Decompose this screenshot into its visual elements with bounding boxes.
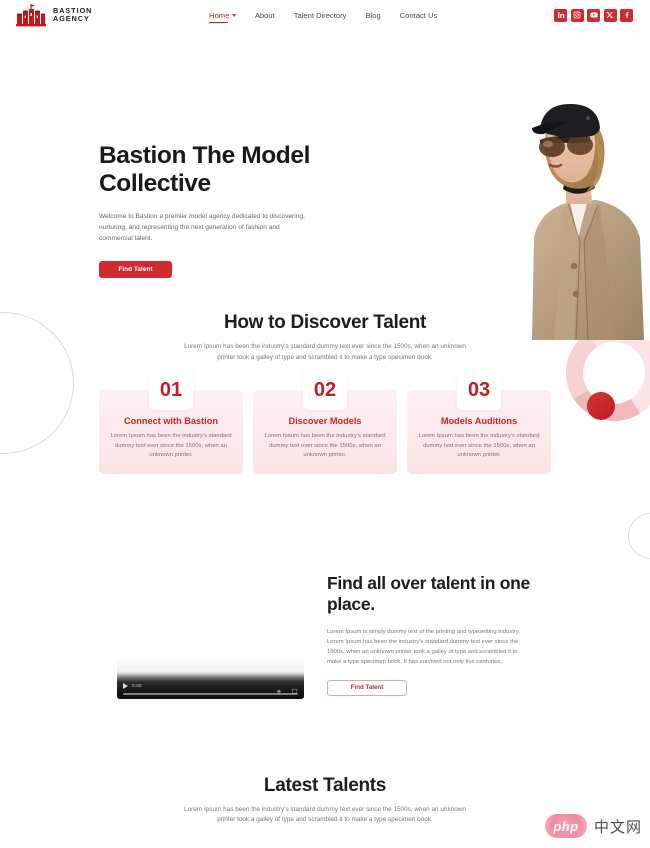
hero-copy: Bastion The Model Collective Welcome to … [99, 142, 315, 278]
facebook-icon[interactable] [620, 9, 633, 22]
video-progress-bar[interactable] [123, 693, 298, 694]
castle-logo-icon [14, 3, 48, 27]
card-text: Lorem Ipsum has been the industry's stan… [109, 432, 233, 461]
nav-item-about[interactable]: About [255, 11, 275, 20]
linkedin-icon[interactable] [554, 9, 567, 22]
watermark-chinese-text: 中文网 [594, 816, 642, 837]
discover-card[interactable]: 03 Models Auditions Lorem Ipsum has been… [407, 390, 551, 474]
card-number-badge: 01 [149, 370, 193, 410]
nav-label-about: About [255, 11, 275, 20]
brand-logo[interactable]: BASTION AGENCY [14, 3, 92, 27]
video-player[interactable]: 0:00 [117, 558, 304, 699]
card-title: Discover Models [263, 416, 387, 426]
video-control-bar: 0:00 [117, 673, 304, 699]
site-header: BASTION AGENCY Home About Talent Directo… [0, 0, 650, 30]
card-text: Lorem Ipsum has been the industry's stan… [263, 432, 387, 461]
find-all-find-talent-button[interactable]: Find Talent [327, 680, 407, 696]
card-text: Lorem Ipsum has been the industry's stan… [417, 432, 541, 461]
video-current-time: 0:00 [132, 683, 142, 688]
chevron-down-icon [232, 14, 236, 17]
discover-cards: 01 Connect with Bastion Lorem Ipsum has … [99, 390, 551, 474]
nav-item-blog[interactable]: Blog [365, 11, 380, 20]
card-title: Models Auditions [417, 416, 541, 426]
hero-model-photo [504, 88, 650, 340]
video-right-controls [276, 682, 298, 689]
fullscreen-icon[interactable] [291, 682, 298, 689]
discover-card[interactable]: 01 Connect with Bastion Lorem Ipsum has … [99, 390, 243, 474]
latest-talents-title: Latest Talents [0, 775, 650, 797]
volume-icon[interactable] [276, 682, 283, 689]
nav-item-home[interactable]: Home [209, 11, 236, 20]
hero-section: Bastion The Model Collective Welcome to … [0, 30, 650, 312]
hero-find-talent-button[interactable]: Find Talent [99, 261, 172, 278]
card-title: Connect with Bastion [109, 416, 233, 426]
nav-label-talent-directory: Talent Directory [294, 11, 347, 20]
site-watermark: php 中文网 [545, 814, 642, 838]
decorative-circle-right-small [628, 513, 650, 559]
nav-label-contact-us: Contact Us [400, 11, 438, 20]
social-links [554, 9, 633, 22]
hero-title: Bastion The Model Collective [99, 142, 315, 198]
find-all-text: Lorem Ipsum is simply dummy text of the … [327, 628, 525, 668]
find-all-section: 0:00 Find all over talent in one place. … [0, 558, 650, 713]
logo-text-line2: AGENCY [53, 15, 92, 23]
instagram-icon[interactable] [571, 9, 584, 22]
discover-subtitle: Lorem Ipsum has been the industry's stan… [180, 342, 470, 363]
hero-subtitle: Welcome to Bastion a premier model agenc… [99, 212, 307, 244]
youtube-icon[interactable] [587, 9, 600, 22]
find-all-title: Find all over talent in one place. [327, 573, 537, 615]
video-left-controls: 0:00 [123, 683, 142, 689]
find-all-copy: Find all over talent in one place. Lorem… [327, 573, 537, 696]
watermark-php-badge: php [545, 814, 587, 838]
discover-card[interactable]: 02 Discover Models Lorem Ipsum has been … [253, 390, 397, 474]
card-number-badge: 02 [303, 370, 347, 410]
x-twitter-icon[interactable] [604, 9, 617, 22]
play-icon[interactable] [123, 683, 128, 689]
nav-label-blog: Blog [365, 11, 380, 20]
landing-page: BASTION AGENCY Home About Talent Directo… [0, 0, 650, 848]
nav-item-talent-directory[interactable]: Talent Directory [294, 11, 347, 20]
nav-item-contact-us[interactable]: Contact Us [400, 11, 438, 20]
latest-talents-subtitle: Lorem Ipsum has been the industry's stan… [180, 805, 470, 826]
nav-label-home: Home [209, 11, 229, 20]
main-navigation: Home About Talent Directory Blog Contact… [209, 11, 437, 20]
card-number-badge: 03 [457, 370, 501, 410]
